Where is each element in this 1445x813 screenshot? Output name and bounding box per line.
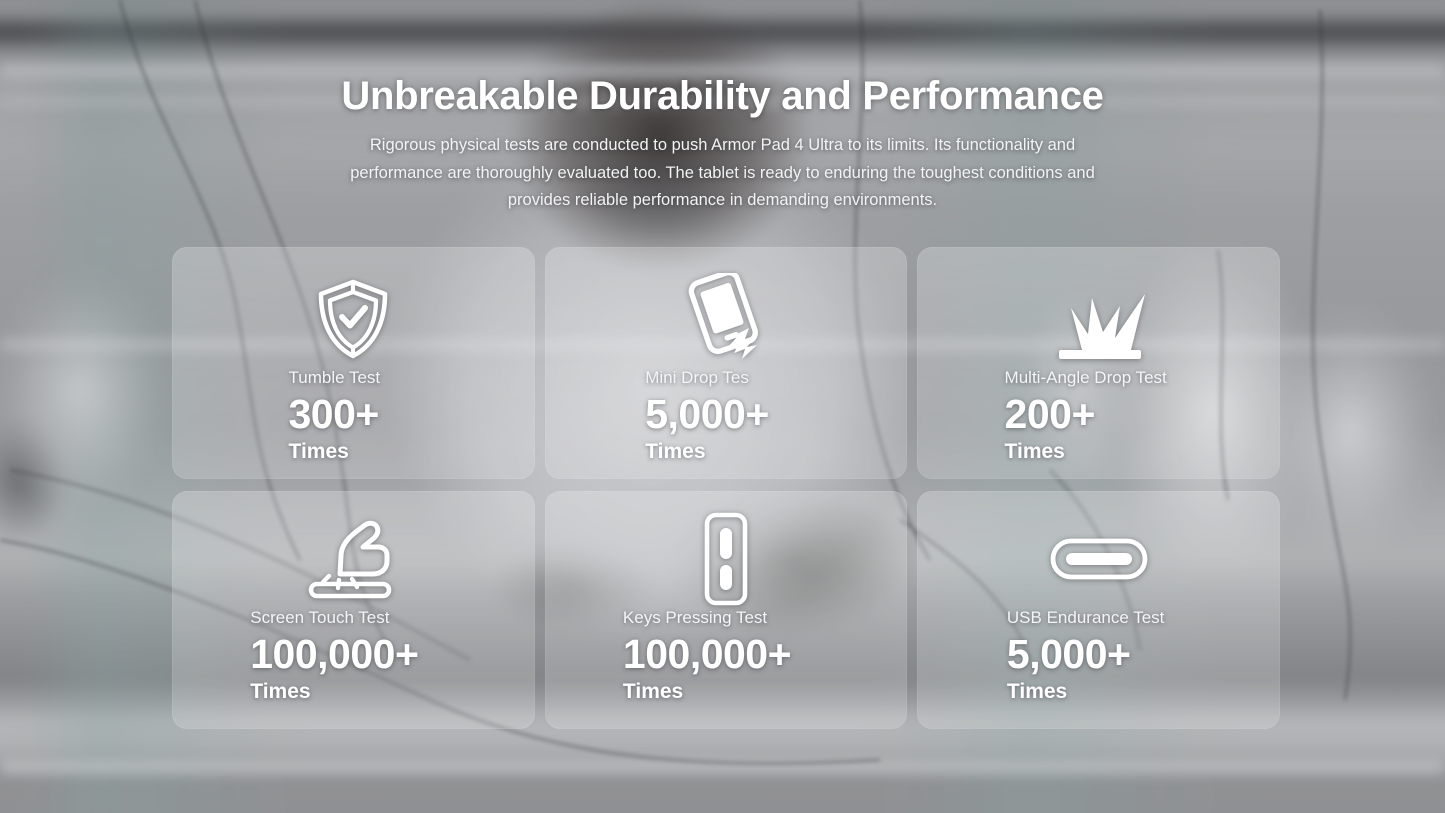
tapping-finger-icon	[305, 513, 401, 605]
test-card-label: Keys Pressing Test	[623, 607, 791, 629]
test-card-unit: Times	[645, 439, 769, 465]
test-card-mini-drop[interactable]: Mini Drop Tes 5,000+ Times	[545, 247, 908, 479]
test-card-tumble[interactable]: Tumble Test 300+ Times	[172, 247, 535, 479]
test-card-unit: Times	[250, 679, 418, 705]
multi-angle-impact-burst-icon	[1045, 273, 1153, 365]
page-title: Unbreakable Durability and Performance	[0, 74, 1445, 119]
test-card-value: 5,000+	[645, 390, 769, 439]
test-card-keys-pressing[interactable]: Keys Pressing Test 100,000+ Times	[545, 491, 908, 729]
test-card-unit: Times	[623, 679, 791, 705]
test-card-value: 300+	[289, 390, 381, 439]
product-feature-banner: Unbreakable Durability and Performance R…	[0, 0, 1445, 813]
test-card-value: 100,000+	[623, 630, 791, 679]
test-card-unit: Times	[1005, 439, 1167, 465]
test-card-label: Screen Touch Test	[250, 607, 418, 629]
test-card-unit: Times	[289, 439, 381, 465]
test-card-label: Tumble Test	[289, 367, 381, 389]
test-card-unit: Times	[1007, 679, 1165, 705]
side-keys-icon	[704, 513, 748, 605]
test-card-value: 5,000+	[1007, 630, 1165, 679]
phone-drop-impact-icon	[687, 273, 765, 365]
test-card-value: 200+	[1005, 390, 1167, 439]
hero-description: Rigorous physical tests are conducted to…	[328, 132, 1118, 215]
test-card-label: Mini Drop Tes	[645, 367, 769, 389]
test-card-multi-angle-drop[interactable]: Multi-Angle Drop Test 200+ Times	[917, 247, 1280, 479]
test-card-screen-touch[interactable]: Screen Touch Test 100,000+ Times	[172, 491, 535, 729]
usb-c-port-icon	[1050, 513, 1148, 605]
test-card-usb-endurance[interactable]: USB Endurance Test 5,000+ Times	[917, 491, 1280, 729]
test-card-label: Multi-Angle Drop Test	[1005, 367, 1167, 389]
durability-test-card-grid: Tumble Test 300+ Times	[172, 247, 1280, 729]
test-card-value: 100,000+	[250, 630, 418, 679]
shield-check-icon	[316, 273, 390, 365]
test-card-label: USB Endurance Test	[1007, 607, 1165, 629]
